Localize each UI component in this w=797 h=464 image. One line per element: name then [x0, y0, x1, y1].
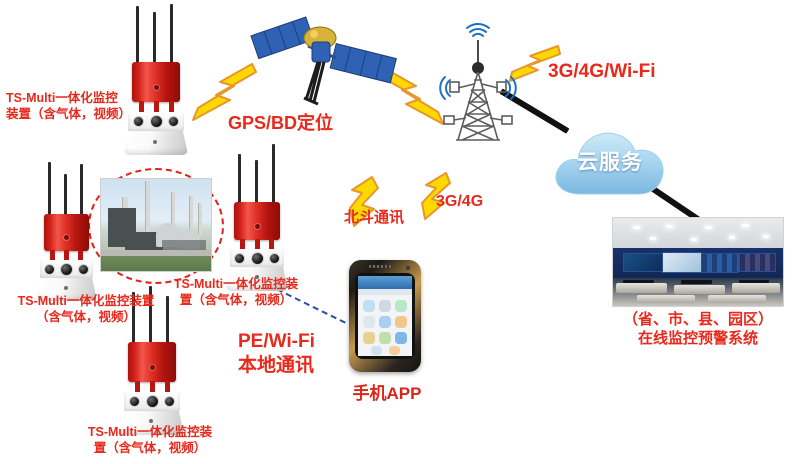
camera-lens-icon: [270, 254, 279, 263]
label-device-top: TS-Multi一体化监控 装置（含气体，视频）: [6, 90, 146, 122]
device-left: [24, 162, 114, 302]
camera-lens-icon: [169, 117, 178, 126]
label-device-left: TS-Multi一体化监控装置 （含气体，视频）: [6, 293, 166, 325]
industrial-plant-photo: [100, 178, 212, 272]
label-control-center: （省、市、县、园区） 在线监控预警系统: [600, 310, 796, 348]
diagram-canvas: 云服务: [0, 0, 797, 464]
camera-lens-icon: [147, 396, 158, 407]
device-mid: [214, 142, 306, 288]
camera-lens-icon: [165, 397, 174, 406]
label-3g4g: 3G/4G: [436, 192, 516, 212]
camera-lens-icon: [130, 397, 139, 406]
label-local-comm: PE/Wi-Fi 本地通讯: [238, 330, 358, 379]
cloud-label: 云服务: [560, 146, 660, 176]
cell-tower-icon: [428, 22, 528, 152]
camera-lens-icon: [252, 253, 263, 264]
control-room-photo: [612, 217, 784, 307]
label-phone-app: 手机APP: [335, 383, 439, 405]
camera-lens-icon: [61, 264, 72, 275]
label-3g4g-wifi: 3G/4G/Wi-Fi: [548, 60, 688, 84]
device-top: [108, 4, 204, 154]
label-device-mid: TS-Multi一体化监控装 置（含气体，视频）: [160, 276, 312, 308]
camera-lens-icon: [79, 265, 88, 274]
label-gps: GPS/BD定位: [228, 112, 358, 135]
label-beidou: 北斗通讯: [344, 208, 440, 227]
label-device-bottom: TS-Multi一体化监控装 置（含气体，视频）: [74, 424, 226, 456]
camera-lens-icon: [151, 116, 162, 127]
camera-lens-icon: [235, 254, 244, 263]
camera-lens-icon: [45, 265, 54, 274]
satellite-icon: [248, 12, 398, 116]
rugged-handheld-device[interactable]: [349, 260, 421, 372]
